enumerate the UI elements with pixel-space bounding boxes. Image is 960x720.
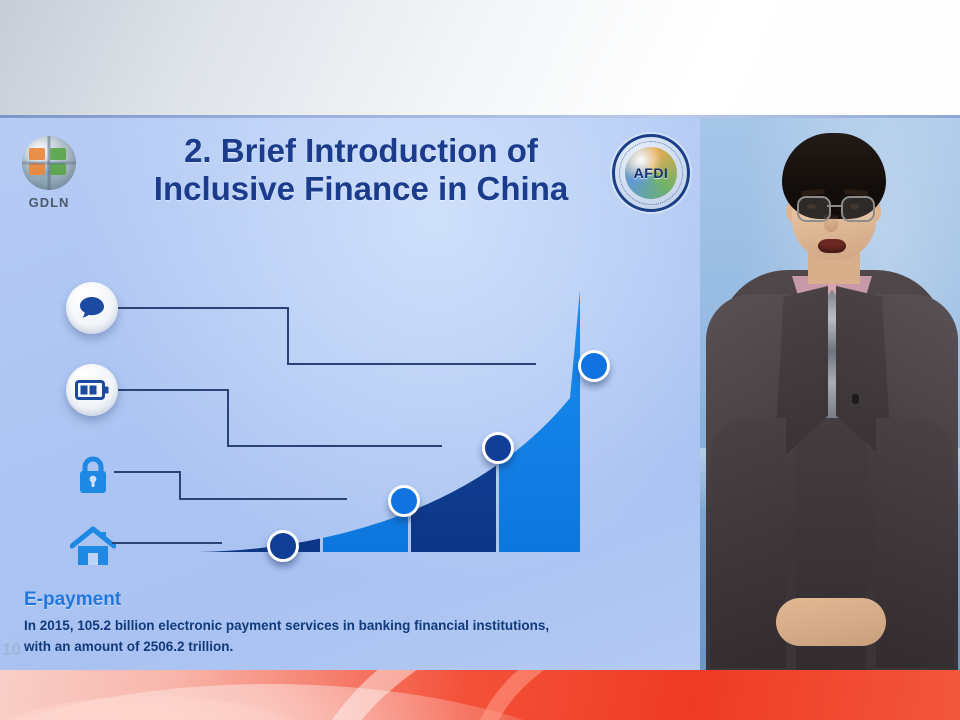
chat-bubble-icon [66, 282, 118, 334]
chart-marker-1 [267, 530, 299, 562]
slide-title-line-2: Inclusive Finance in China [96, 170, 626, 208]
top-decorative-banner [0, 0, 960, 118]
connector-lock-segment-h1 [114, 471, 180, 473]
caption-line-1: In 2015, 105.2 billion electronic paymen… [24, 616, 624, 637]
lock-icon [72, 454, 114, 496]
gdln-logo: GDLN [18, 136, 80, 210]
gdln-logo-label: GDLN [18, 195, 80, 210]
presenter-hands [776, 598, 886, 646]
presenter-figure [700, 118, 960, 670]
slide-title-line-1: 2. Brief Introduction of [96, 132, 626, 170]
presenter-mouth [818, 239, 846, 253]
presentation-slide: GDLN AFDI 2. Brief Introduction of Inclu… [0, 118, 700, 670]
battery-icon [66, 364, 118, 416]
presenter-arm-right [876, 418, 954, 668]
glasses-lens-right [841, 196, 875, 222]
screen: GDLN AFDI 2. Brief Introduction of Inclu… [0, 0, 960, 720]
bottom-decorative-banner [0, 670, 960, 720]
chart-marker-2 [388, 485, 420, 517]
chart-marker-3 [482, 432, 514, 464]
presenter-nose [824, 214, 838, 232]
slide-caption: E-payment In 2015, 105.2 billion electro… [24, 589, 624, 658]
presenter-video[interactable] [700, 118, 960, 670]
glasses-bridge [827, 205, 841, 207]
caption-line-2: with an amount of 2506.2 trillion. [24, 637, 624, 658]
bottom-swoosh-inner [449, 670, 960, 720]
chart-marker-4 [578, 350, 610, 382]
globe-gridlines [22, 136, 76, 190]
home-icon [70, 526, 116, 568]
globe-icon [22, 136, 76, 190]
growth-chart [180, 278, 660, 580]
presenter-lapel-mic [852, 394, 859, 404]
slide-page-number: 10 [2, 640, 21, 660]
caption-heading: E-payment [24, 589, 624, 611]
presenter-arm-left [710, 418, 786, 668]
slide-title: 2. Brief Introduction of Inclusive Finan… [96, 132, 626, 209]
infographic [0, 268, 700, 588]
content-frame: GDLN AFDI 2. Brief Introduction of Inclu… [0, 118, 960, 670]
